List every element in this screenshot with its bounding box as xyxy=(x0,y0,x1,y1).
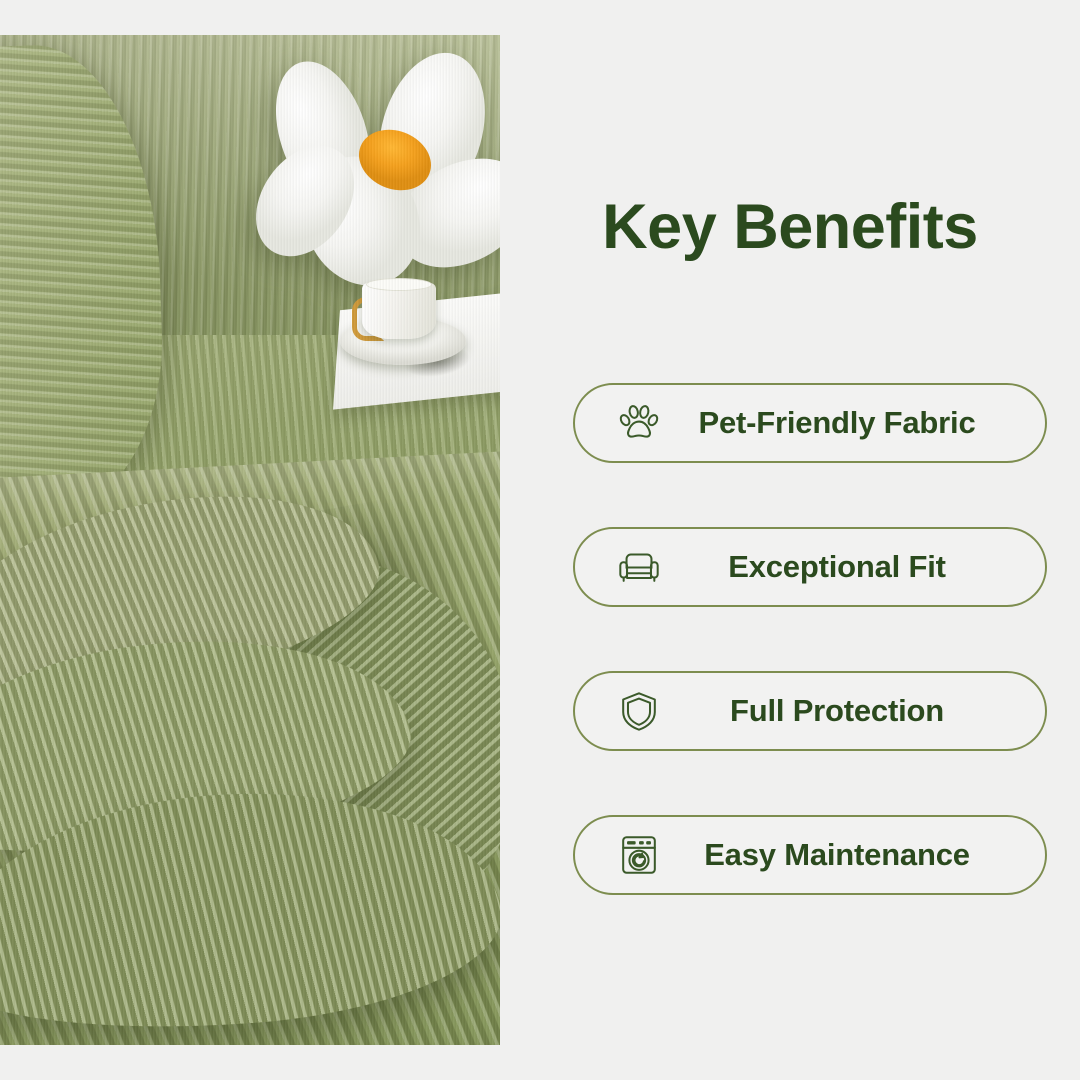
product-photo xyxy=(0,35,500,1045)
benefit-label: Exceptional Fit xyxy=(669,549,1045,585)
sofa-icon xyxy=(609,540,669,594)
benefit-item-pet-friendly-fabric[interactable]: Pet-Friendly Fabric xyxy=(573,383,1047,463)
benefit-item-full-protection[interactable]: Full Protection xyxy=(573,671,1047,751)
benefit-item-exceptional-fit[interactable]: Exceptional Fit xyxy=(573,527,1047,607)
benefit-label: Easy Maintenance xyxy=(669,837,1045,873)
teacup xyxy=(362,283,436,339)
benefit-label: Full Protection xyxy=(669,693,1045,729)
daisy-flower-pillow xyxy=(262,45,500,275)
shield-icon xyxy=(609,684,669,738)
benefits-panel: Key Benefits Pet-Friendly Fabric xyxy=(500,0,1080,1080)
benefit-item-easy-maintenance[interactable]: Easy Maintenance xyxy=(573,815,1047,895)
paw-print-icon xyxy=(609,396,669,450)
washing-machine-icon xyxy=(609,828,669,882)
key-benefits-poster: Key Benefits Pet-Friendly Fabric xyxy=(0,0,1080,1080)
benefit-label: Pet-Friendly Fabric xyxy=(669,405,1045,441)
page-title: Key Benefits xyxy=(500,196,1080,259)
benefits-list: Pet-Friendly Fabric Except xyxy=(573,383,1047,895)
